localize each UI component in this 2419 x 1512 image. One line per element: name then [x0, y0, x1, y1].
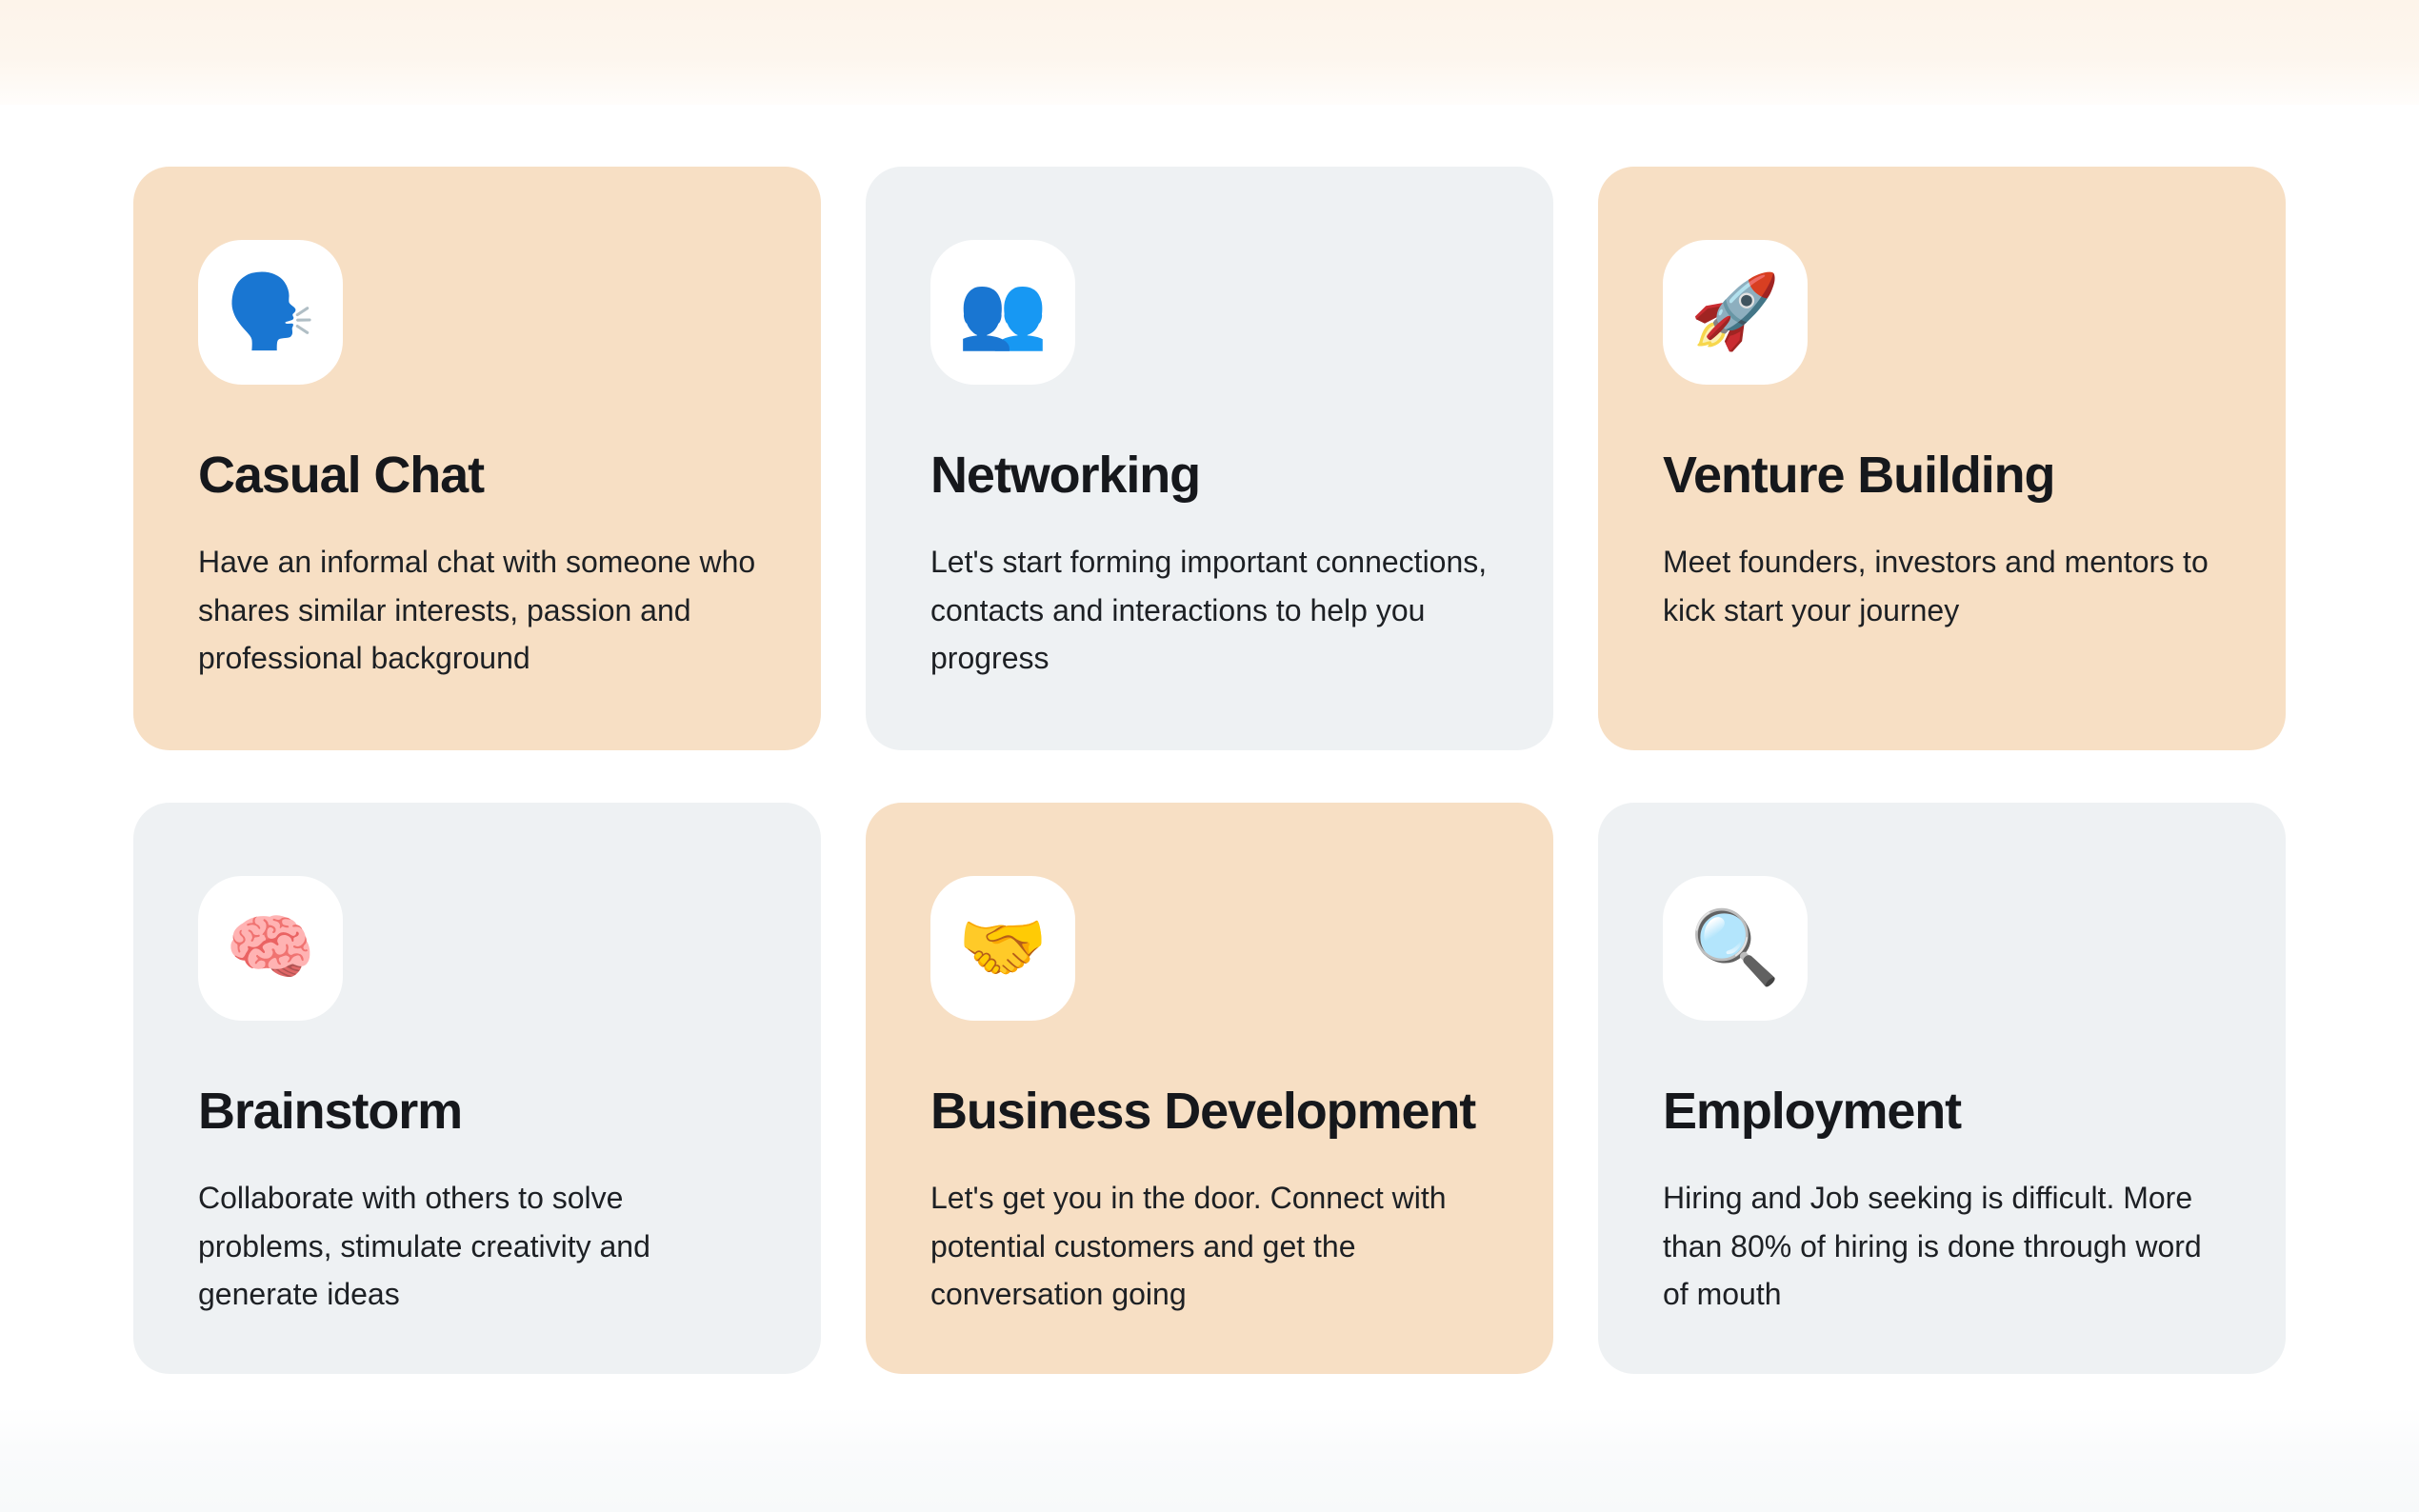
category-card-grid: 🗣️ Casual Chat Have an informal chat wit… — [133, 167, 2286, 1374]
card-title: Brainstorm — [198, 1084, 756, 1139]
icon-tile: 👥 — [930, 240, 1075, 385]
brain-icon: 🧠 — [226, 912, 316, 985]
card-description: Collaborate with others to solve problem… — [198, 1174, 756, 1319]
card-title: Networking — [930, 448, 1489, 503]
card-description: Hiring and Job seeking is difficult. Mor… — [1663, 1174, 2221, 1319]
category-card-brainstorm[interactable]: 🧠 Brainstorm Collaborate with others to … — [133, 803, 821, 1374]
busts-in-silhouette-icon: 👥 — [958, 276, 1049, 348]
speaking-head-icon: 🗣️ — [226, 276, 316, 348]
icon-tile: 🔍 — [1663, 876, 1808, 1021]
icon-tile: 🧠 — [198, 876, 343, 1021]
handshake-icon: 🤝 — [958, 912, 1049, 985]
category-card-networking[interactable]: 👥 Networking Let's start forming importa… — [866, 167, 1553, 750]
rocket-icon: 🚀 — [1690, 276, 1781, 348]
card-description: Have an informal chat with someone who s… — [198, 538, 756, 683]
card-title: Casual Chat — [198, 448, 756, 503]
top-background-band — [0, 0, 2419, 105]
card-title: Employment — [1663, 1084, 2221, 1139]
icon-tile: 🤝 — [930, 876, 1075, 1021]
icon-tile: 🚀 — [1663, 240, 1808, 385]
card-description: Meet founders, investors and mentors to … — [1663, 538, 2221, 634]
icon-tile: 🗣️ — [198, 240, 343, 385]
category-card-casual-chat[interactable]: 🗣️ Casual Chat Have an informal chat wit… — [133, 167, 821, 750]
card-title: Venture Building — [1663, 448, 2221, 503]
page-root: 🗣️ Casual Chat Have an informal chat wit… — [0, 0, 2419, 1512]
category-card-venture-building[interactable]: 🚀 Venture Building Meet founders, invest… — [1598, 167, 2286, 750]
card-description: Let's get you in the door. Connect with … — [930, 1174, 1489, 1319]
category-card-employment[interactable]: 🔍 Employment Hiring and Job seeking is d… — [1598, 803, 2286, 1374]
bottom-background-band — [0, 1407, 2419, 1512]
card-description: Let's start forming important connection… — [930, 538, 1489, 683]
magnifying-glass-icon: 🔍 — [1690, 912, 1781, 985]
category-card-business-development[interactable]: 🤝 Business Development Let's get you in … — [866, 803, 1553, 1374]
card-title: Business Development — [930, 1084, 1489, 1139]
